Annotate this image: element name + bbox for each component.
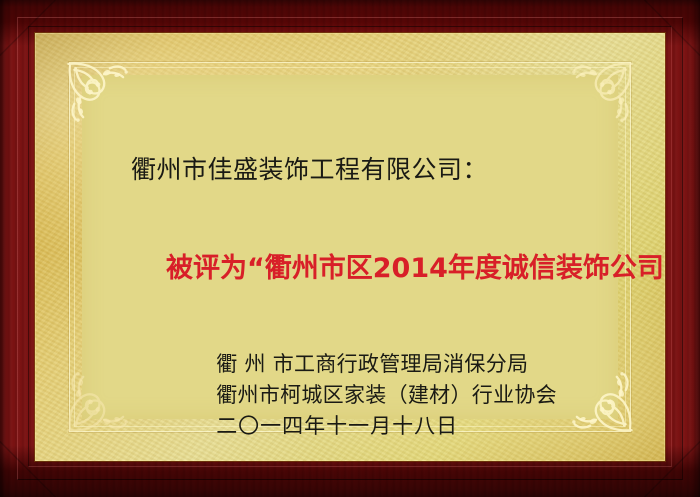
gold-certificate-panel: 衢州市佳盛装饰工程有限公司： 被评为“衢州市区2014年度诚信装饰公司” 衢 州…: [35, 33, 665, 461]
issuer-line-2: 衢州市柯城区家装（建材）行业协会: [216, 380, 557, 411]
award-headline: 被评为“衢州市区2014年度诚信装饰公司”: [166, 246, 665, 285]
certificate-text-layer: 衢州市佳盛装饰工程有限公司： 被评为“衢州市区2014年度诚信装饰公司” 衢 州…: [35, 33, 665, 461]
issue-date: 二〇一四年十一月十八日: [216, 411, 557, 442]
issuer-line-1: 衢 州 市工商行政管理局消保分局: [216, 349, 557, 380]
award-plaque: 衢州市佳盛装饰工程有限公司： 被评为“衢州市区2014年度诚信装饰公司” 衢 州…: [0, 0, 700, 497]
addressee-line: 衢州市佳盛装饰工程有限公司：: [131, 150, 488, 186]
signature-block: 衢 州 市工商行政管理局消保分局 衢州市柯城区家装（建材）行业协会 二〇一四年十…: [216, 349, 557, 442]
